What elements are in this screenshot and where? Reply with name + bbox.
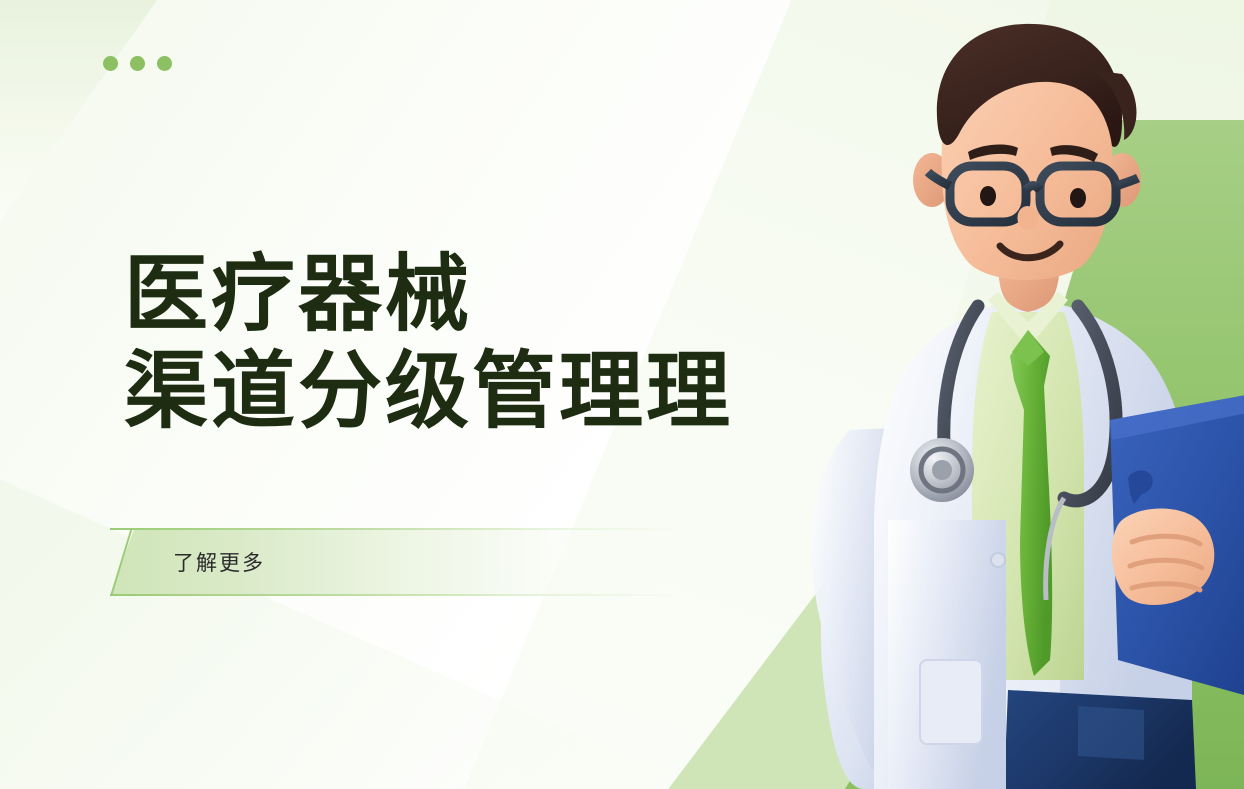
three-dots-decor — [103, 56, 172, 71]
eye-right — [1070, 188, 1086, 208]
learn-more-button[interactable]: 了解更多 — [110, 528, 690, 596]
coat-front-left-panel — [888, 520, 1006, 789]
trousers-highlight — [1078, 706, 1144, 760]
dot-1-icon — [103, 56, 118, 71]
promo-banner: 医疗器械 渠道分级管理理 了解更多 — [0, 0, 1244, 789]
eye-left — [980, 186, 996, 206]
dot-3-icon — [157, 56, 172, 71]
learn-more-label: 了解更多 — [173, 547, 265, 577]
cta-border-bottom — [110, 594, 690, 596]
3d-doctor-character — [792, 0, 1244, 789]
coat-pocket — [920, 660, 982, 744]
dot-2-icon — [130, 56, 145, 71]
coat-button — [991, 553, 1005, 567]
page-title: 医疗器械 渠道分级管理理 — [124, 246, 733, 441]
headline-line-2: 渠道分级管理理 — [124, 343, 733, 440]
cta-border-top — [110, 528, 690, 530]
headline-line-1: 医疗器械 — [124, 246, 733, 343]
